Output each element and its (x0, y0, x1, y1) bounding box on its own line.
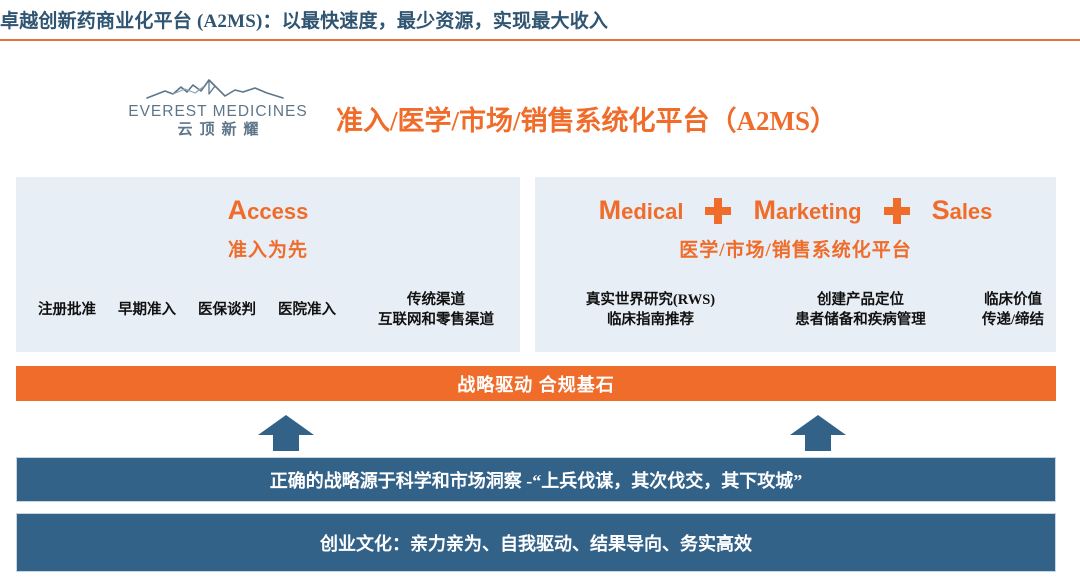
culture-bar: 创业文化：亲力亲为、自我驱动、结果导向、务实高效 (16, 513, 1056, 572)
plus-icon (884, 198, 910, 224)
list-item: 临床价值 传递/缔结 (973, 290, 1053, 330)
plus-icon (705, 198, 731, 224)
main-heading: 准入/医学/市场/销售系统化平台（A2MS） (336, 99, 837, 138)
list-item: 创建产品定位 患者储备和疾病管理 (748, 290, 973, 330)
panel-access-items: 注册批准 早期准入 医保谈判 医院准入 传统渠道 互联网和零售渠道 (16, 290, 542, 330)
word-marketing-rest: arketing (776, 199, 862, 224)
list-item: 传统渠道 互联网和零售渠道 (378, 290, 494, 330)
logo-english-name: EVEREST MEDICINES (128, 102, 308, 121)
word-sales-rest: ales (950, 199, 993, 224)
word-marketing-capital: M (753, 195, 776, 225)
word-access-capital: A (228, 195, 248, 225)
word-sales: Sales (932, 197, 993, 224)
arrow-stem (805, 434, 831, 451)
list-item-line1: 传统渠道 (407, 292, 465, 308)
logo-chinese-name: 云顶新耀 (128, 121, 308, 140)
company-logo: EVEREST MEDICINES 云顶新耀 (128, 74, 308, 150)
list-item-line2: 传递/缔结 (973, 310, 1053, 330)
word-medical-capital: M (599, 195, 622, 225)
page-header: 卓越创新药商业化平台 (A2MS)：以最快速度，最少资源，实现最大收入 (0, 0, 1080, 40)
list-item: 注册批准 (38, 300, 96, 320)
list-item: 真实世界研究(RWS) 临床指南推荐 (553, 290, 748, 330)
word-sales-capital: S (932, 195, 950, 225)
insight-bar: 正确的战略源于科学和市场洞察 -“上兵伐谋，其次伐交，其下攻城” (16, 457, 1056, 502)
list-item-line1: 医院准入 (278, 302, 336, 318)
list-item-line1: 临床价值 (984, 292, 1042, 308)
word-medical-rest: edical (621, 199, 683, 224)
panel-m2s-subtitle: 医学/市场/销售系统化平台 (535, 235, 1056, 262)
arrow-head (790, 415, 846, 435)
arrow-stem (273, 434, 299, 451)
word-medical: Medical (599, 197, 684, 224)
panel-m2s-items: 真实世界研究(RWS) 临床指南推荐 创建产品定位 患者储备和疾病管理 临床价值… (535, 290, 1074, 330)
list-item-line1: 注册批准 (38, 302, 96, 318)
list-item: 医保谈判 (198, 300, 256, 320)
panel-access-title: Access (16, 197, 520, 224)
panel-access: Access 准入为先 注册批准 早期准入 医保谈判 医院准入 传统渠道 互联网… (16, 177, 520, 352)
arrow-head (258, 415, 314, 435)
panel-m2s: Medical Marketing Sales 医学/市场/销售系统化平台 真实… (535, 177, 1056, 352)
arrow-up-icon (258, 415, 314, 451)
strategy-bar: 战略驱动 合规基石 (16, 366, 1056, 401)
word-access-rest: ccess (247, 199, 308, 224)
list-item-line2: 患者储备和疾病管理 (748, 310, 973, 330)
word-marketing: Marketing (753, 197, 861, 224)
list-item-line1: 医保谈判 (198, 302, 256, 318)
arrow-up-icon (790, 415, 846, 451)
page-title: 卓越创新药商业化平台 (A2MS)：以最快速度，最少资源，实现最大收入 (0, 6, 608, 33)
mountain-range-icon (143, 74, 293, 102)
list-item-line1: 早期准入 (118, 302, 176, 318)
header-divider (0, 39, 1080, 41)
panel-access-subtitle: 准入为先 (16, 235, 520, 262)
list-item-line2: 互联网和零售渠道 (378, 310, 494, 330)
list-item-line1: 创建产品定位 (817, 292, 904, 308)
list-item: 医院准入 (278, 300, 336, 320)
panel-m2s-title: Medical Marketing Sales (535, 197, 1056, 224)
list-item: 早期准入 (118, 300, 176, 320)
list-item-line2: 临床指南推荐 (553, 310, 748, 330)
word-access: Access (228, 197, 309, 224)
list-item-line1: 真实世界研究(RWS) (586, 292, 715, 308)
